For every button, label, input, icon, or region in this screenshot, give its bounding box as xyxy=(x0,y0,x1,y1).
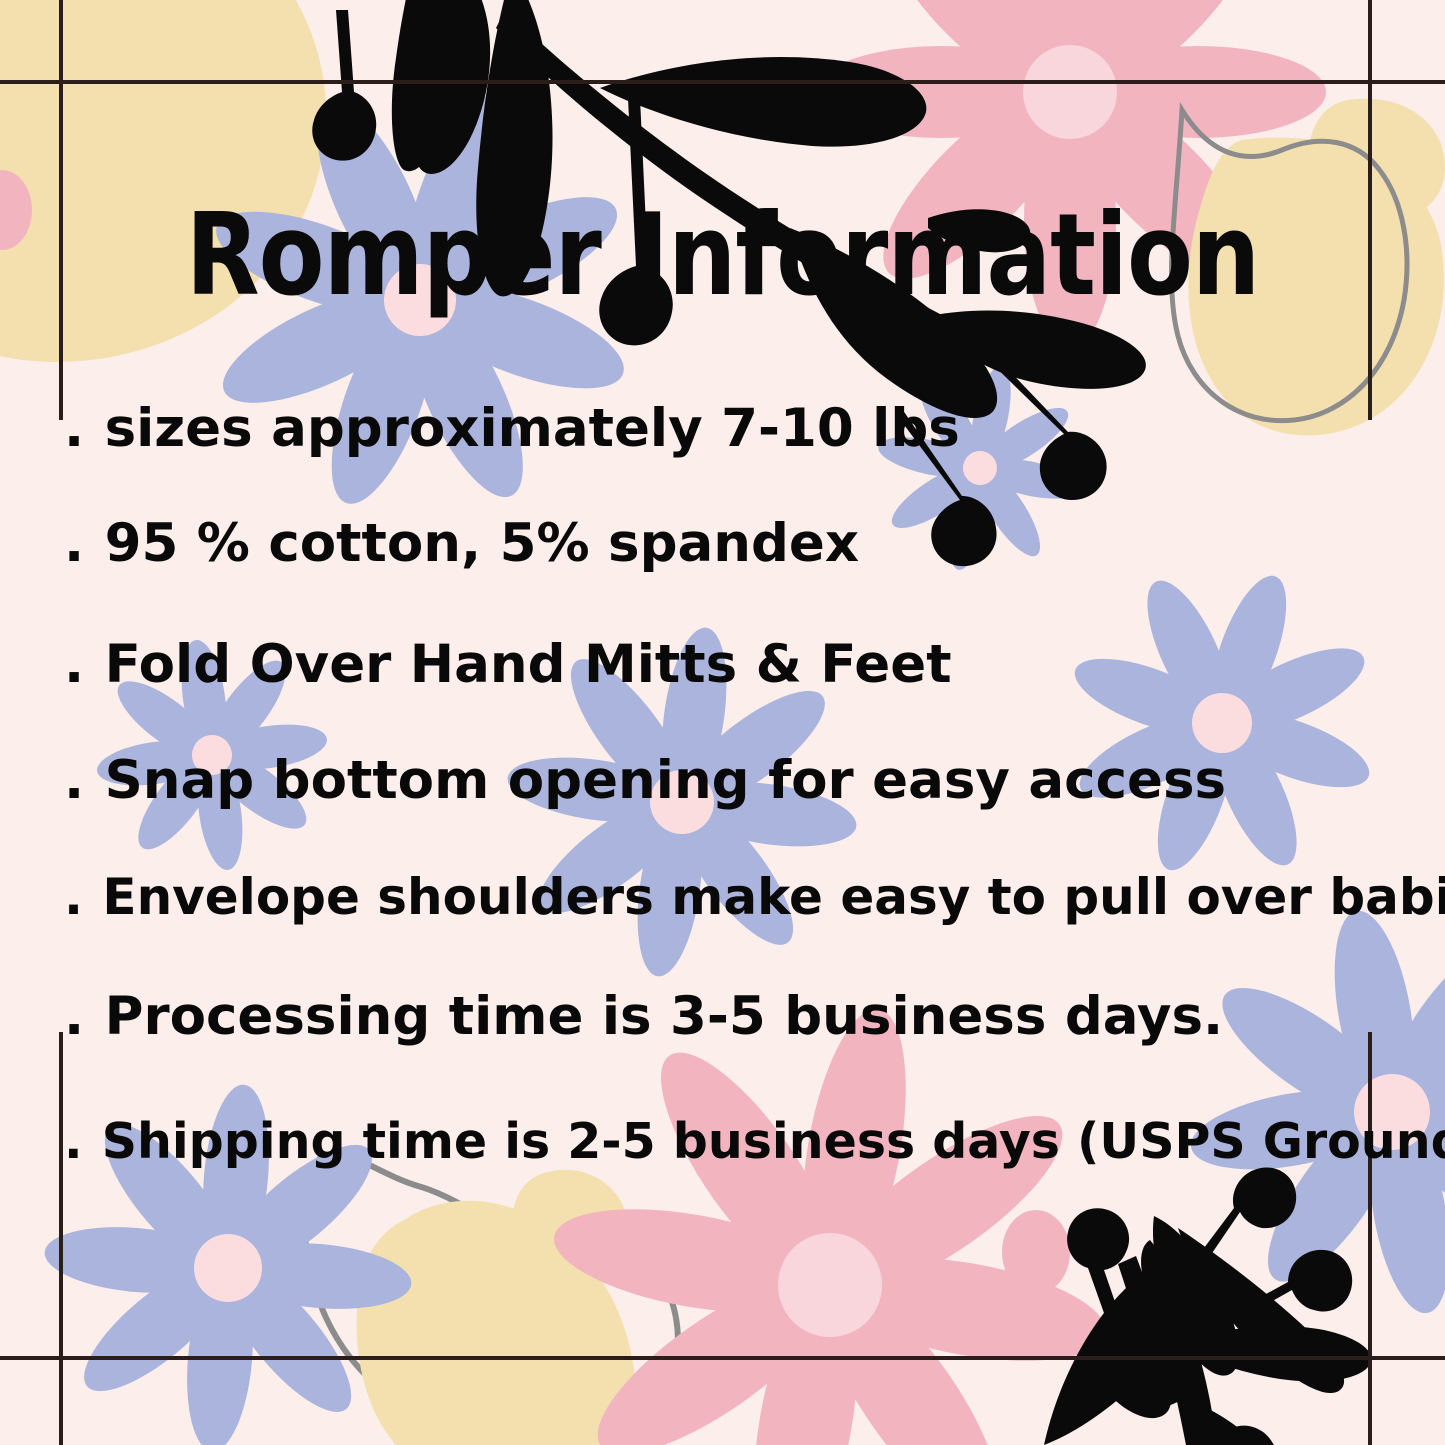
frame-line-vertical-left-bottom xyxy=(59,1032,63,1445)
list-item: . 95 % cotton, 5% spandex xyxy=(64,513,859,574)
blue-daisy-bottom-right xyxy=(1156,876,1445,1349)
list-item-text: Processing time is 3-5 business days. xyxy=(105,986,1224,1047)
bullet-marker: . xyxy=(64,1113,85,1170)
list-item-text: Fold Over Hand Mitts & Feet xyxy=(105,634,952,695)
list-item: . Snap bottom opening for easy access xyxy=(64,750,1226,811)
bullet-marker: . xyxy=(64,634,86,695)
list-item: . Processing time is 3-5 business days. xyxy=(64,986,1223,1047)
blue-daisy-upper-right xyxy=(857,345,1104,592)
blue-daisy-right xyxy=(1022,523,1422,923)
list-item-text: 95 % cotton, 5% spandex xyxy=(105,513,859,574)
romper-information-graphic: Romper Information . sizes approximately… xyxy=(0,0,1445,1445)
bullet-marker: . xyxy=(64,513,86,574)
list-item: . sizes approximately 7-10 lbs xyxy=(64,398,960,459)
page-title: Romper Information xyxy=(0,196,1445,315)
gray-outline-bottom-center xyxy=(304,1154,678,1440)
list-item: . Envelope shoulders make easy to pull o… xyxy=(64,868,1445,926)
frame-line-vertical-right-bottom xyxy=(1368,1032,1372,1445)
list-item-text: Envelope shoulders make easy to pull ove… xyxy=(102,868,1445,926)
list-item-text: sizes approximately 7-10 lbs xyxy=(105,398,960,459)
bullet-marker: . xyxy=(64,750,86,811)
yellow-blob-bottom-center xyxy=(357,1201,637,1445)
bullet-marker: . xyxy=(64,986,86,1047)
list-item: . Shipping time is 2-5 business days (US… xyxy=(64,1113,1445,1170)
list-item-text: Shipping time is 2-5 business days (USPS… xyxy=(102,1113,1445,1170)
frame-line-horizontal-top xyxy=(0,80,1445,84)
list-item: . Fold Over Hand Mitts & Feet xyxy=(64,634,952,695)
bullet-marker: . xyxy=(64,868,85,926)
pink-blob-bottom-left xyxy=(1002,1210,1070,1294)
frame-line-horizontal-bottom xyxy=(0,1356,1445,1360)
bullet-marker: . xyxy=(64,398,86,459)
yellow-blob-bottom-center-small xyxy=(512,1170,629,1286)
list-item-text: Snap bottom opening for easy access xyxy=(105,750,1226,811)
black-branch-bottom-right xyxy=(1044,1167,1371,1445)
